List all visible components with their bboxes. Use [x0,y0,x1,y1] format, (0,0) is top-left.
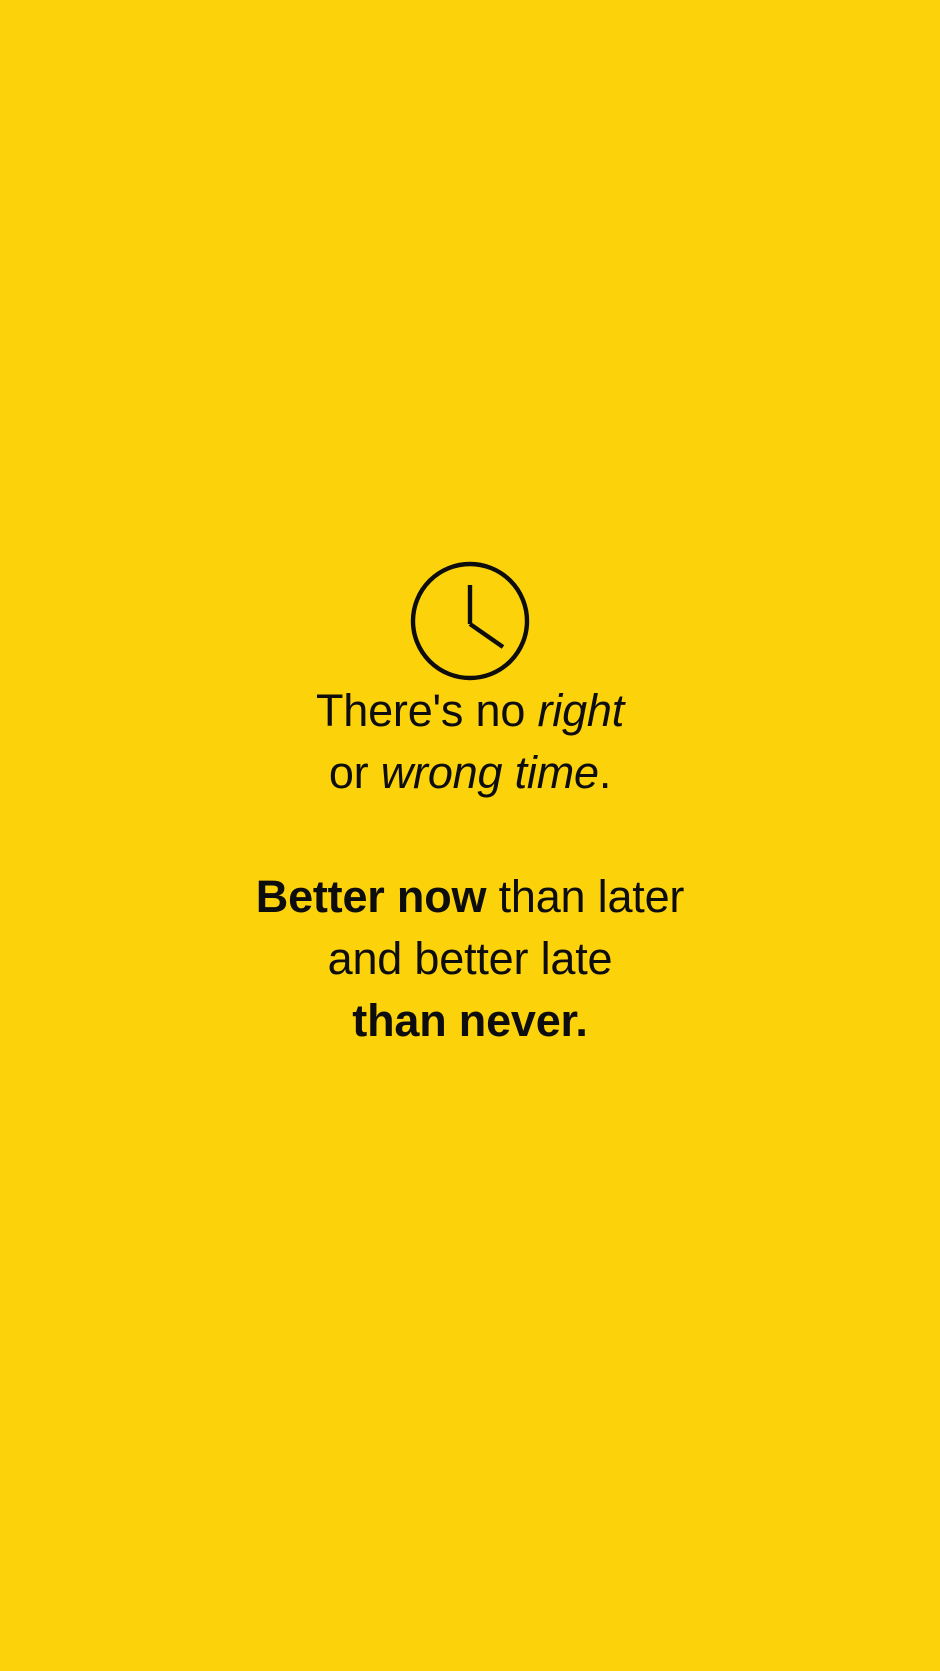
quote-line-5: than never. [0,990,940,1052]
quote-line-2-part-1: or [329,747,381,798]
quote-line-4: and better late [0,928,940,990]
quote-line-1-part-1: There's no [316,685,538,736]
quote-block-first: There's no right or wrong time. [0,680,940,804]
quote-text: There's no right or wrong time. Better n… [0,680,940,1052]
quote-line-5-strong: than never [352,995,575,1046]
quote-line-5-period: . [575,995,587,1046]
quote-line-3-part-2: than later [486,871,684,922]
quote-line-3: Better now than later [0,866,940,928]
quote-line-2-part-3: . [599,747,611,798]
quote-block-second: Better now than later and better late th… [0,866,940,1052]
quote-line-3-strong: Better now [256,871,487,922]
clock-icon-container [0,553,940,689]
quote-line-2: or wrong time. [0,742,940,804]
quote-line-4-part-1: and better late [328,933,613,984]
quote-line-1: There's no right [0,680,940,742]
quote-line-2-emphasis: wrong time [381,747,599,798]
quote-card: There's no right or wrong time. Better n… [0,0,940,1671]
quote-line-1-emphasis: right [537,685,624,736]
clock-icon [402,553,538,689]
